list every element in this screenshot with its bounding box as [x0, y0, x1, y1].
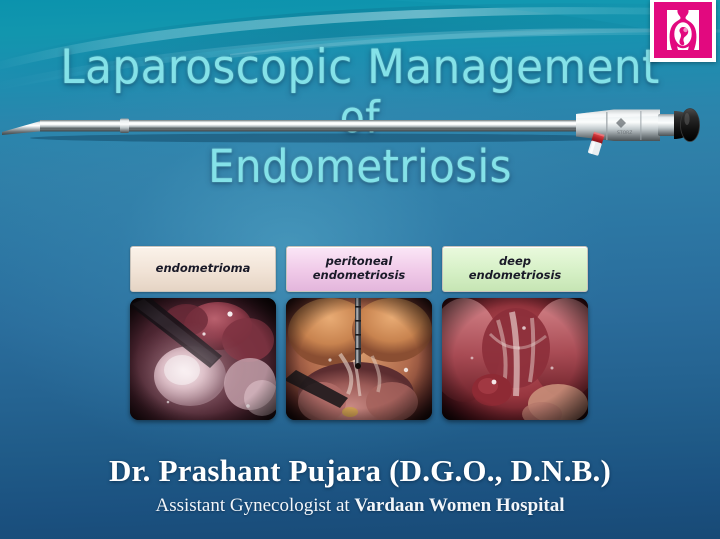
hospital-logo [650, 0, 716, 62]
panel-label-peritoneal-endometriosis: peritonealendometriosis [286, 246, 432, 292]
pregnant-woman-logo-icon [650, 0, 716, 62]
hospital-name: Vardaan Women Hospital [354, 495, 564, 516]
presenter-name: Dr. Prashant Pujara (D.G.O., D.N.B.) [0, 453, 720, 489]
panel-label-text: endometrioma [156, 262, 251, 276]
panel-photo-deep-endometriosis [442, 298, 588, 420]
panel-label-text: peritonealendometriosis [313, 255, 406, 282]
panel-peritoneal-endometriosis: peritonealendometriosis [286, 246, 432, 426]
presentation-slide: Laparoscopic Management of Endometriosis [0, 0, 720, 539]
title-line-1: Laparoscopic Management [25, 44, 695, 92]
title-line-2: of [25, 96, 695, 141]
panel-label-deep-endometriosis: deependometriosis [442, 246, 588, 292]
panel-deep-endometriosis: deependometriosis [442, 246, 588, 426]
role-prefix: Assistant Gynecologist at [155, 495, 354, 516]
panel-label-endometrioma: endometrioma [130, 246, 276, 292]
panel-endometrioma: endometrioma [130, 246, 276, 426]
presenter-credits: Dr. Prashant Pujara (D.G.O., D.N.B.) Ass… [0, 453, 720, 517]
panel-photo-peritoneal-endometriosis [286, 298, 432, 420]
title-line-3: Endometriosis [25, 144, 695, 190]
presenter-role: Assistant Gynecologist at Vardaan Women … [0, 495, 720, 517]
panel-photo-endometrioma [130, 298, 276, 420]
endometriosis-type-panels: endometrioma [130, 246, 588, 426]
slide-title: Laparoscopic Management of Endometriosis [0, 44, 720, 190]
panel-label-text: deependometriosis [469, 255, 562, 282]
